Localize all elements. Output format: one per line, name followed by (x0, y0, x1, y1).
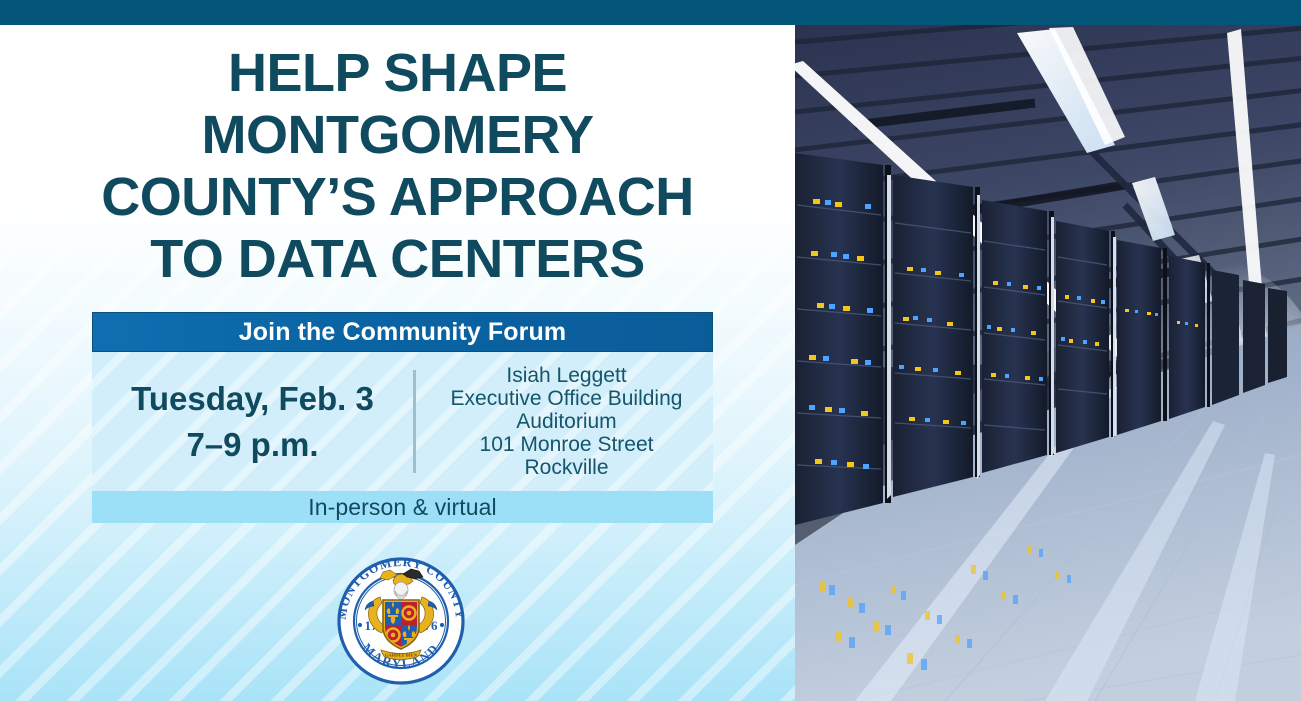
venue-line-1: Isiah Leggett (420, 364, 713, 387)
event-datetime: Tuesday, Feb. 3 7–9 p.m. (92, 376, 413, 468)
venue-line-5: Rockville (420, 456, 713, 479)
venue-line-3: Auditorium (420, 410, 713, 433)
event-time: 7–9 p.m. (92, 422, 413, 468)
venue-line-4: 101 Monroe Street (420, 433, 713, 456)
seal-icon: MONTGOMERY COUNTY MARYLAND 17 76 (337, 557, 465, 685)
attendance-note: In-person & virtual (308, 494, 497, 521)
data-center-illustration (795, 25, 1301, 701)
data-center-photo (795, 25, 1301, 701)
attendance-strip: In-person & virtual (92, 491, 713, 523)
headline-line-4: TO DATA CENTERS (0, 228, 795, 290)
community-forum-banner: Join the Community Forum (92, 312, 713, 352)
headline-line-1: HELP SHAPE (0, 42, 795, 104)
event-details-card: Join the Community Forum Tuesday, Feb. 3… (92, 312, 713, 523)
page-title: HELP SHAPE MONTGOMERY COUNTY’S APPROACH … (0, 42, 795, 290)
event-details-body: Tuesday, Feb. 3 7–9 p.m. Isiah Leggett E… (92, 352, 713, 491)
poster-canvas: HELP SHAPE MONTGOMERY COUNTY’S APPROACH … (0, 0, 1301, 701)
svg-text:GARDEZ BIEN: GARDEZ BIEN (385, 653, 418, 658)
headline-line-3: COUNTY’S APPROACH (0, 166, 795, 228)
headline-line-2: MONTGOMERY (0, 104, 795, 166)
event-date: Tuesday, Feb. 3 (92, 376, 413, 422)
montgomery-county-seal-logo: MONTGOMERY COUNTY MARYLAND 17 76 (337, 557, 465, 685)
community-forum-banner-label: Join the Community Forum (239, 318, 566, 347)
venue-line-2: Executive Office Building (420, 387, 713, 410)
event-venue: Isiah Leggett Executive Office Building … (416, 364, 713, 479)
top-accent-bar (0, 0, 1301, 25)
